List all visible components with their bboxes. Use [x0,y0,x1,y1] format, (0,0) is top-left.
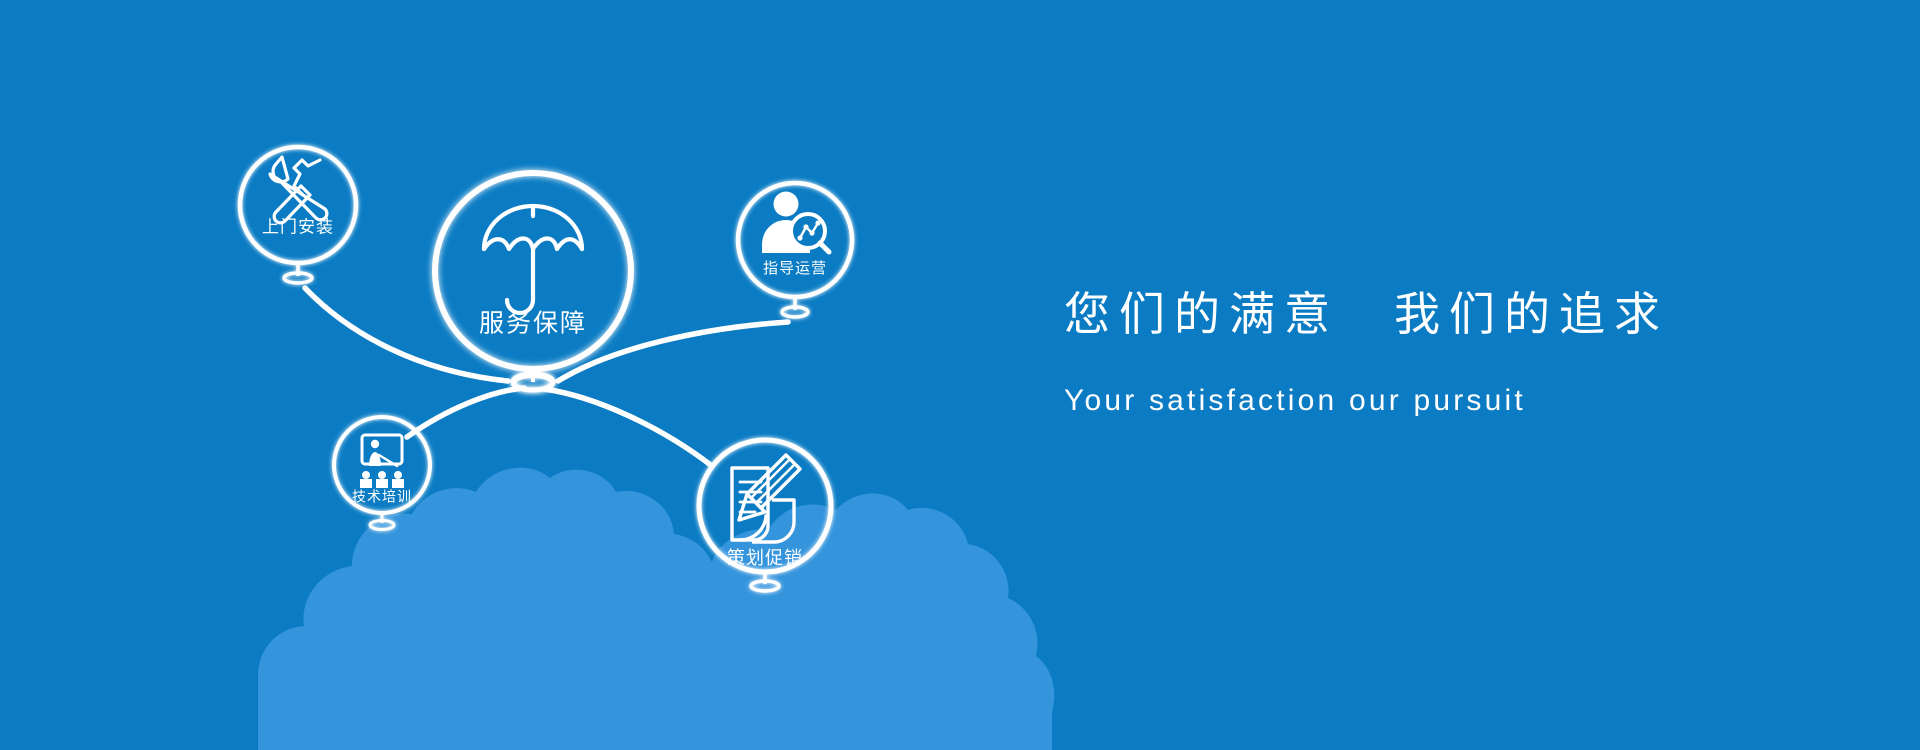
node-installation[interactable]: 上门安装 [240,147,356,283]
user-analytics-icon [762,192,829,254]
node-service-guarantee-label: 服务保障 [479,310,587,338]
umbrella-icon [484,206,582,313]
hammer-wrench-icon [270,157,327,223]
service-banner: 上门安装 服务保障 [0,0,1920,750]
headline-text: 您们的满意 我们的追求 [1064,286,1824,344]
node-installation-ring [240,147,356,283]
connector-installation-to-hub [305,288,508,381]
node-guidance-operation-label: 指导运营 [763,260,827,277]
training-board-icon [360,435,404,488]
node-planning-promotion-label: 策划促销 [727,548,803,568]
node-guidance-operation[interactable]: 指导运营 [738,183,852,317]
node-technical-training-label: 技术培训 [352,489,412,505]
marketing-copy: 您们的满意 我们的追求 Your satisfaction our pursui… [1064,286,1824,418]
connector-training-to-hub [407,388,524,437]
node-planning-promotion[interactable]: 策划促销 [699,440,831,591]
connector-promotion-to-hub [544,389,712,466]
node-installation-label: 上门安装 [262,217,334,236]
document-pencil-icon [732,455,800,542]
subline-text: Your satisfaction our pursuit [1064,344,1824,418]
